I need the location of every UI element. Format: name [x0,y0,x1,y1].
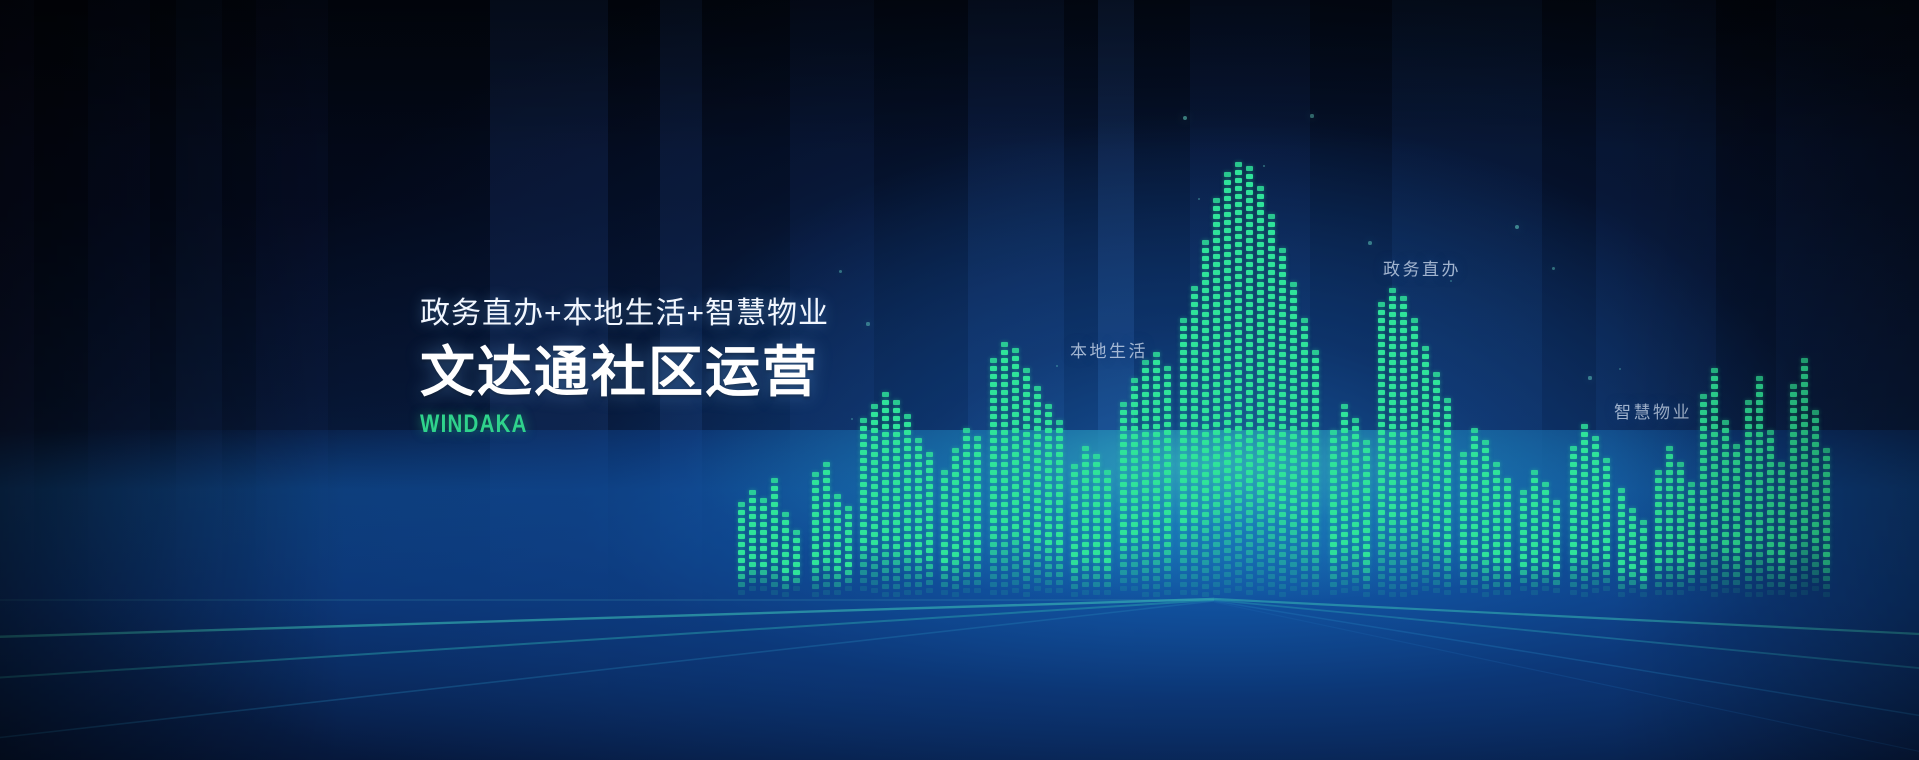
sparkle-dot [1450,280,1453,283]
hero-copy-block: 政务直办+本地生活+智慧物业 文达通社区运营 WINDAKA [420,294,1140,439]
sparkle-dot [839,270,842,273]
hero-title: 文达通社区运营 [420,340,1140,404]
skyline-label-zhengwu-zhiban: 政务直办 [1383,255,1461,280]
sparkle-dot [1310,114,1313,117]
sparkle-dot [1619,368,1622,371]
sparkle-dot [1023,491,1026,494]
sparkle-dot [1198,198,1201,201]
sparkle-dot [1368,241,1372,245]
sparkle-dot [1552,267,1555,270]
hero-banner: 政务直办 本地生活 智慧物业 政务直办+本地生活+智慧物业 文达通社区运营 WI… [0,0,1919,760]
sparkle-dot [1183,116,1187,120]
sparkle-dot [1588,376,1591,379]
skyline-label-zhihui-wuye: 智慧物业 [1614,398,1692,423]
sparkle-dot [1263,165,1266,168]
sparkle-dot [1515,225,1519,229]
brand-wordmark: WINDAKA [420,409,1010,439]
hero-subtitle: 政务直办+本地生活+智慧物业 [420,294,1140,334]
